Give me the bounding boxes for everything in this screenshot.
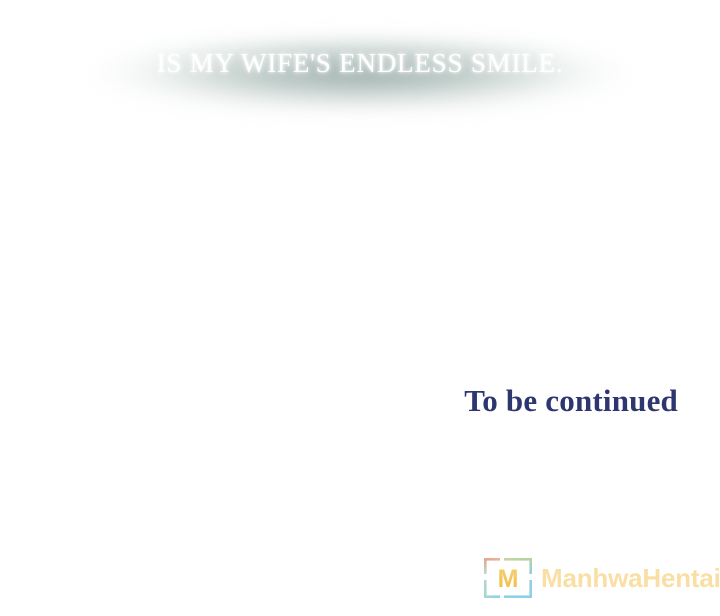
to-be-continued-text: To be continued xyxy=(0,383,678,419)
caption-text: IS MY WIFE'S ENDLESS SMILE. xyxy=(0,46,720,80)
svg-text:M: M xyxy=(498,565,519,593)
comic-page: IS MY WIFE'S ENDLESS SMILE. To be contin… xyxy=(0,0,720,616)
brand-name-label: ManhwaHentai xyxy=(541,565,720,592)
site-watermark[interactable]: M ManhwaHentai xyxy=(482,552,704,604)
brand-logo-icon[interactable]: M xyxy=(482,554,534,602)
